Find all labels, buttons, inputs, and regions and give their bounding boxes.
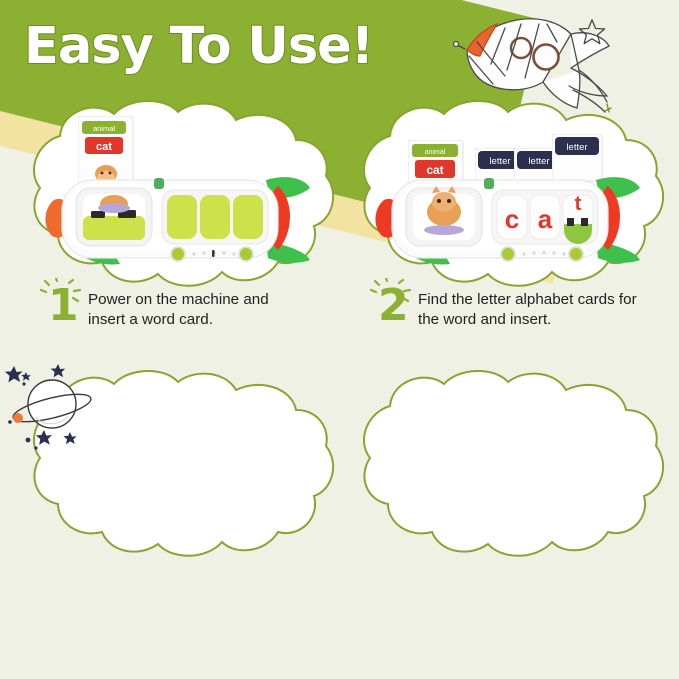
panel-3: c a t animal letter letter letter — [0, 340, 340, 679]
green-button-right — [569, 247, 583, 261]
step-text-1: Power on the machine and insert a word c… — [88, 290, 303, 330]
panel-4: c e t animal letter letter letter — [330, 340, 679, 679]
green-button-right — [239, 247, 253, 261]
word-card-word: cat — [96, 141, 112, 153]
green-button-left — [501, 247, 515, 261]
letter-slot-3 — [233, 195, 263, 239]
slot-letter-1: c — [505, 204, 519, 234]
letter-slot-1 — [167, 195, 197, 239]
step-text-2: Find the letter alphabet cards for the w… — [418, 290, 643, 330]
word-card-category: animal — [93, 124, 115, 133]
toy-device[interactable]: c a t — [358, 166, 642, 272]
poster-root: Easy To Use! — [0, 0, 679, 679]
slot-letter-3: t — [575, 193, 582, 215]
letter-slot-2 — [200, 195, 230, 239]
svg-text:letter: letter — [566, 142, 587, 153]
panel-2: animal cat letter letter letter — [330, 0, 679, 340]
step-number-2: 2 — [378, 284, 409, 328]
word-card-category: animal — [425, 149, 446, 156]
slot-letter-2: a — [538, 204, 553, 234]
green-button-left — [171, 247, 185, 261]
step-number-1: 1 — [48, 284, 79, 328]
panel-1: animal cat — [0, 0, 340, 340]
toy-device[interactable] — [28, 166, 312, 272]
